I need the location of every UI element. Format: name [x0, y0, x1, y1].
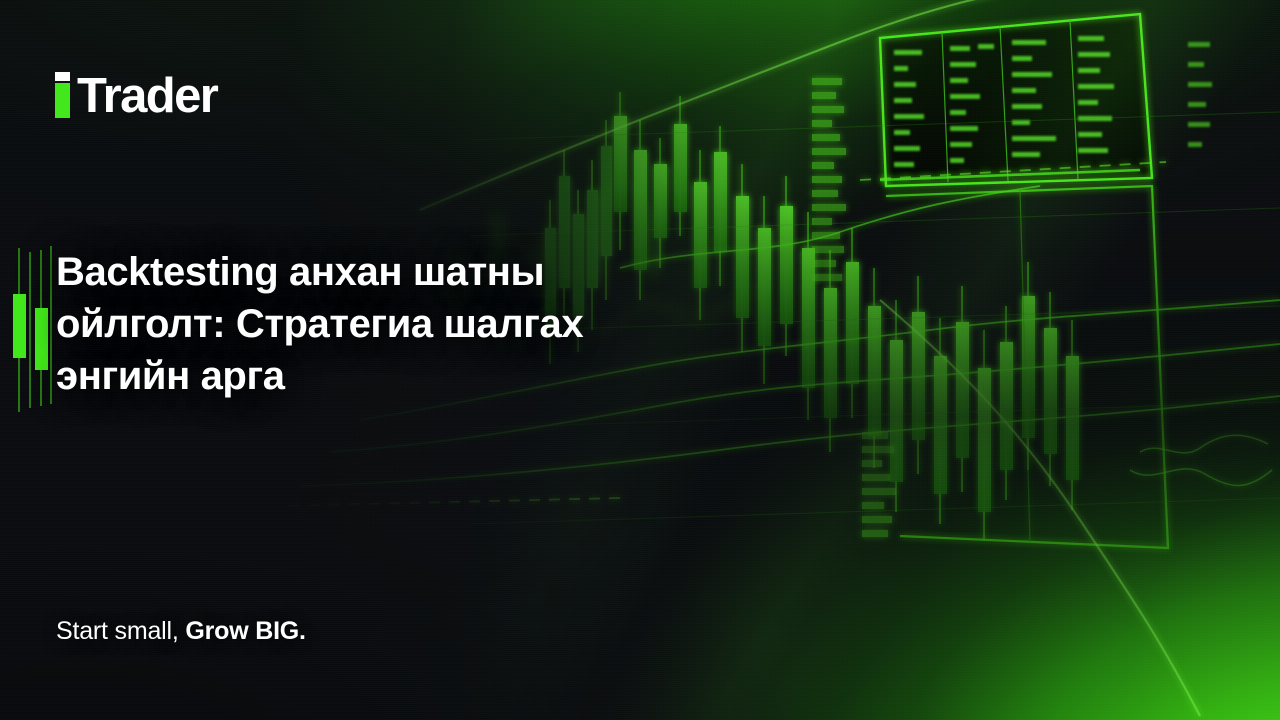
logo-wordmark: Trader — [77, 73, 217, 119]
panel-text-rows — [894, 36, 1114, 167]
waveform — [1130, 435, 1272, 485]
promo-banner: Trader Backtesting анхан шатны ойлголт: … — [0, 0, 1280, 720]
candlestick-accent — [8, 246, 52, 414]
logo-i-icon — [55, 72, 70, 118]
tagline: Start small, Grow BIG. — [56, 615, 306, 647]
data-panel — [880, 14, 1152, 186]
itrader-logo[interactable]: Trader — [55, 66, 217, 118]
logo-i-stem — [55, 83, 70, 118]
price-scale — [1188, 42, 1212, 147]
page-title: Backtesting анхан шатны ойлголт: Стратег… — [56, 246, 696, 402]
headline-line-2: ойлголт: Стратегиа шалгах — [56, 298, 696, 350]
headline-line-3: энгийн арга — [56, 350, 696, 402]
logo-i-dot — [55, 72, 70, 81]
volume-ladder — [812, 78, 896, 537]
tagline-bold: Grow BIG. — [185, 617, 305, 645]
tagline-regular: Start small, — [56, 617, 185, 645]
headline-line-1: Backtesting анхан шатны — [56, 246, 696, 298]
chart-panel-frame — [880, 170, 1168, 548]
